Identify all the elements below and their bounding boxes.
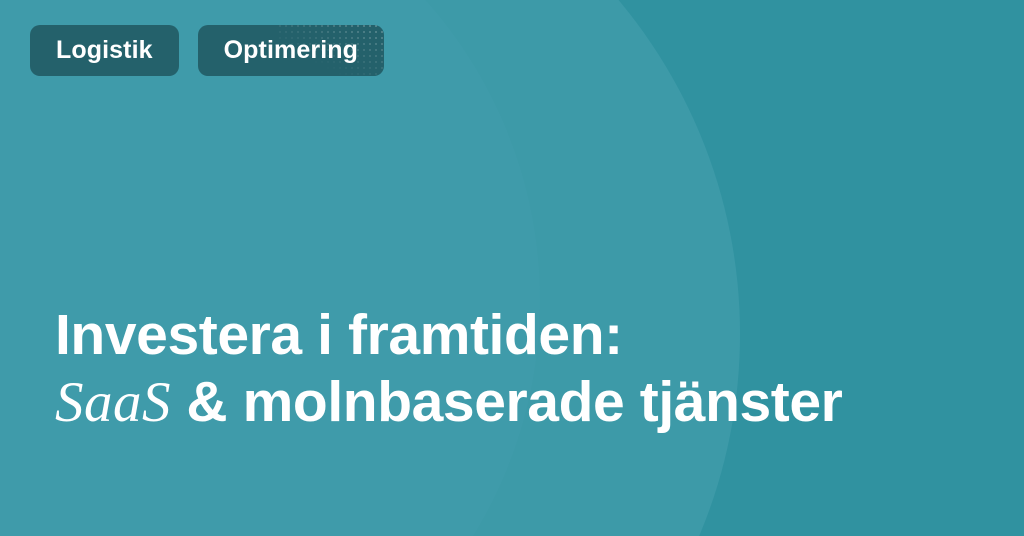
tag-optimering-label: Optimering <box>224 38 358 63</box>
page-title-line-2-rest: & molnbaserade tjänster <box>171 370 842 434</box>
page-title-line-2: SaaS & molnbaserade tjänster <box>55 369 842 437</box>
tag-logistik[interactable]: Logistik <box>30 25 179 76</box>
page-title-line-1: Investera i framtiden: <box>55 302 842 369</box>
tag-optimering[interactable]: Optimering <box>198 25 384 76</box>
tag-logistik-label: Logistik <box>56 38 153 63</box>
background-decoration <box>0 0 1024 536</box>
background-circle-soft <box>0 0 540 536</box>
page-title-emphasis: SaaS <box>55 371 171 434</box>
page-title: Investera i framtiden: SaaS & molnbasera… <box>55 302 842 436</box>
tag-list: Logistik Optimering <box>30 25 384 76</box>
promo-banner: Logistik Optimering Investera i framtide… <box>0 0 1024 536</box>
background-circle-large <box>0 0 740 536</box>
